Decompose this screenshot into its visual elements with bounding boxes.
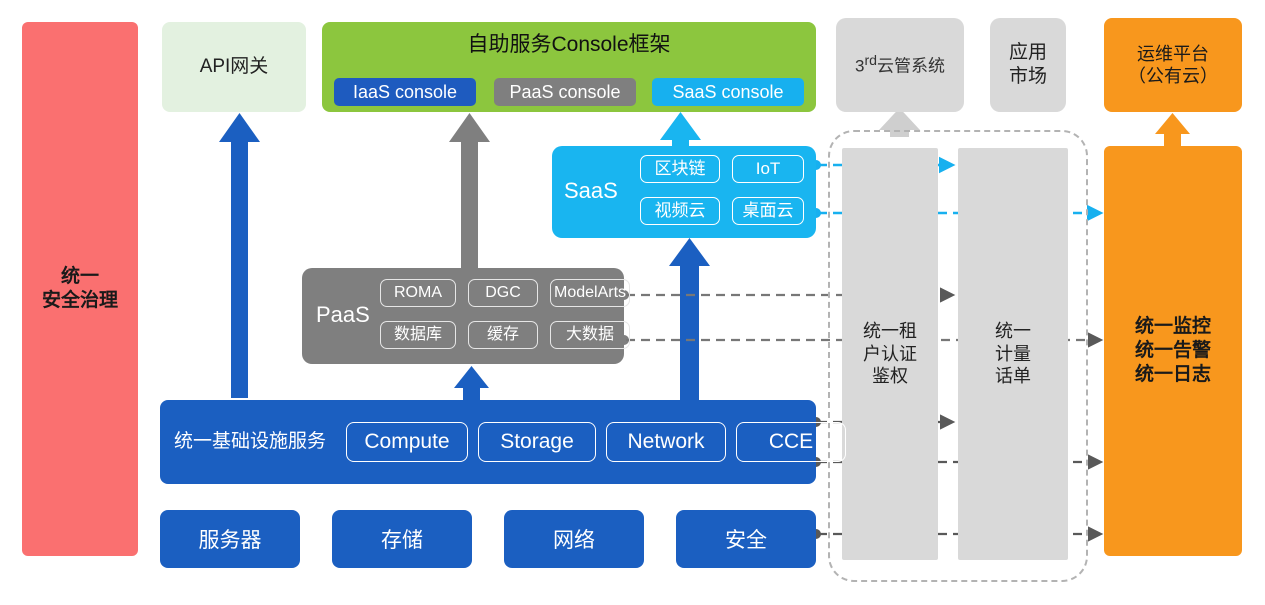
ops-body-line-1: 统一监控 bbox=[1135, 315, 1211, 339]
saas-service-desktop-cloud[interactable]: 桌面云 bbox=[732, 197, 804, 225]
app-market-line-1: 应用 bbox=[1009, 41, 1047, 65]
unified-security-governance-panel: 统一 安全治理 bbox=[22, 22, 138, 556]
billing-line-1: 统一 bbox=[995, 320, 1031, 343]
paas-service-modelarts-label: ModelArts bbox=[554, 283, 626, 303]
hardware-box-network-label: 网络 bbox=[553, 524, 595, 554]
infra-service-storage-label: Storage bbox=[500, 429, 574, 455]
iaas-console-label: IaaS console bbox=[353, 81, 457, 104]
infra-service-cce-label: CCE bbox=[769, 429, 813, 455]
hardware-box-server-label: 服务器 bbox=[199, 524, 262, 554]
saas-service-iot[interactable]: IoT bbox=[732, 155, 804, 183]
paas-service-dgc[interactable]: DGC bbox=[468, 279, 538, 307]
app-market-box: 应用 市场 bbox=[990, 18, 1066, 112]
ops-body-line-2: 统一告警 bbox=[1135, 339, 1211, 363]
hardware-box-server[interactable]: 服务器 bbox=[160, 510, 300, 568]
third-party-cloud-mgmt-box: 3rd云管系统 bbox=[836, 18, 964, 112]
saas-service-desktop-cloud-label: 桌面云 bbox=[743, 200, 794, 221]
unified-infrastructure-box: 统一基础设施服务 Compute Storage Network CCE bbox=[160, 400, 816, 484]
console-framework-title: 自助服务Console框架 bbox=[322, 32, 816, 58]
billing-line-2: 计量 bbox=[995, 343, 1031, 366]
infra-service-compute-label: Compute bbox=[364, 429, 449, 455]
third-cloud-label: 3rd云管系统 bbox=[855, 53, 945, 77]
arrow-infra-to-paas-up bbox=[454, 366, 489, 402]
hardware-box-security[interactable]: 安全 bbox=[676, 510, 816, 568]
auth-line-1: 统一租 bbox=[863, 320, 917, 343]
unified-metering-billing-panel: 统一 计量 话单 bbox=[958, 148, 1068, 560]
infra-service-network[interactable]: Network bbox=[606, 422, 726, 462]
infra-service-compute[interactable]: Compute bbox=[346, 422, 468, 462]
ops-platform-header-box: 运维平台 （公有云） bbox=[1104, 18, 1242, 112]
saas-layer-label: SaaS bbox=[564, 177, 618, 205]
governance-line-2: 安全治理 bbox=[42, 289, 118, 313]
paas-service-cache[interactable]: 缓存 bbox=[468, 321, 538, 349]
infrastructure-label: 统一基础设施服务 bbox=[174, 430, 326, 454]
ops-top-line-2: （公有云） bbox=[1128, 65, 1218, 88]
saas-layer-box: SaaS 区块链 IoT 视频云 桌面云 bbox=[552, 146, 816, 238]
hardware-box-storage[interactable]: 存储 bbox=[332, 510, 472, 568]
arrow-infra-to-saas-up bbox=[669, 238, 710, 402]
paas-console-chip[interactable]: PaaS console bbox=[494, 78, 636, 106]
paas-service-roma-label: ROMA bbox=[394, 283, 442, 303]
paas-layer-label: PaaS bbox=[316, 301, 370, 329]
paas-service-dgc-label: DGC bbox=[485, 283, 521, 303]
app-market-line-2: 市场 bbox=[1009, 65, 1047, 89]
saas-console-chip[interactable]: SaaS console bbox=[652, 78, 804, 106]
paas-service-roma[interactable]: ROMA bbox=[380, 279, 456, 307]
paas-service-database[interactable]: 数据库 bbox=[380, 321, 456, 349]
hardware-box-security-label: 安全 bbox=[725, 524, 767, 554]
arrow-api-gateway-up bbox=[219, 113, 260, 398]
third-cloud-suffix: 云管系统 bbox=[877, 57, 945, 76]
paas-service-modelarts[interactable]: ModelArts bbox=[550, 279, 630, 307]
third-cloud-superscript: rd bbox=[864, 53, 877, 69]
infra-service-cce[interactable]: CCE bbox=[736, 422, 846, 462]
iaas-console-chip[interactable]: IaaS console bbox=[334, 78, 476, 106]
saas-service-blockchain-label: 区块链 bbox=[655, 158, 706, 179]
arrow-saas-to-console-up bbox=[660, 112, 701, 150]
billing-line-3: 话单 bbox=[995, 365, 1031, 388]
ops-top-line-1: 运维平台 bbox=[1128, 43, 1218, 66]
saas-service-video-cloud-label: 视频云 bbox=[655, 200, 706, 221]
unified-tenant-auth-panel: 统一租 户认证 鉴权 bbox=[842, 148, 938, 560]
saas-service-iot-label: IoT bbox=[756, 158, 781, 179]
saas-service-blockchain[interactable]: 区块链 bbox=[640, 155, 720, 183]
arrow-paas-to-console-up bbox=[449, 113, 490, 268]
paas-service-database-label: 数据库 bbox=[394, 325, 442, 345]
arrow-ops-up bbox=[1155, 113, 1190, 146]
paas-layer-box: PaaS ROMA DGC ModelArts 数据库 缓存 大数据 bbox=[302, 268, 624, 364]
unified-monitoring-panel: 统一监控 统一告警 统一日志 bbox=[1104, 146, 1242, 556]
infra-service-network-label: Network bbox=[627, 429, 704, 455]
ops-body-line-3: 统一日志 bbox=[1135, 363, 1211, 387]
api-gateway-box: API网关 bbox=[162, 22, 306, 112]
console-framework-box: 自助服务Console框架 IaaS console PaaS console … bbox=[322, 22, 816, 112]
saas-service-video-cloud[interactable]: 视频云 bbox=[640, 197, 720, 225]
paas-service-cache-label: 缓存 bbox=[487, 325, 519, 345]
hardware-box-storage-label: 存储 bbox=[381, 524, 423, 554]
paas-service-bigdata[interactable]: 大数据 bbox=[550, 321, 630, 349]
architecture-diagram: 统一 安全治理 API网关 自助服务Console框架 IaaS console… bbox=[0, 0, 1265, 605]
api-gateway-label: API网关 bbox=[200, 55, 269, 79]
paas-service-bigdata-label: 大数据 bbox=[566, 325, 614, 345]
auth-line-2: 户认证 bbox=[863, 343, 917, 366]
auth-line-3: 鉴权 bbox=[863, 365, 917, 388]
saas-console-label: SaaS console bbox=[672, 81, 783, 104]
infra-service-storage[interactable]: Storage bbox=[478, 422, 596, 462]
governance-line-1: 统一 bbox=[42, 265, 118, 289]
paas-console-label: PaaS console bbox=[509, 81, 620, 104]
hardware-box-network[interactable]: 网络 bbox=[504, 510, 644, 568]
